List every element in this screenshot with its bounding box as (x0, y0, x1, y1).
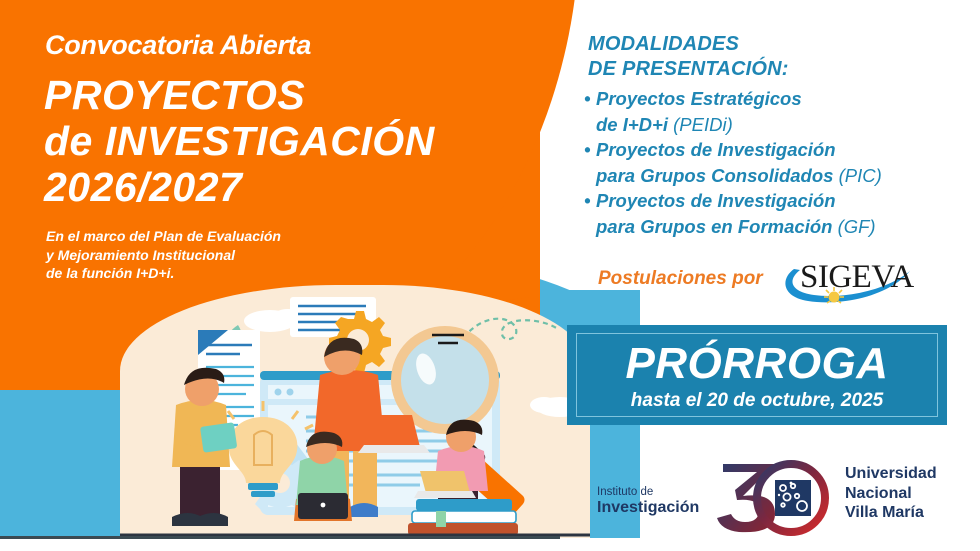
lede-line-2: y Mejoramiento Institucional (46, 246, 281, 265)
bullet-icon: • (584, 188, 596, 214)
list-item-line-2: para Grupos Consolidados (596, 165, 833, 186)
university-name: Universidad Nacional Villa María (845, 464, 937, 523)
research-illustration (120, 285, 590, 538)
sigeva-logo[interactable]: SIGEVA (778, 257, 918, 305)
sigeva-wordmark: SIGEVA (800, 259, 914, 296)
deadline-subline: hasta el 20 de octubre, 2025 (567, 390, 947, 412)
lede-line-3: de la función I+D+i. (46, 264, 281, 283)
list-item-abbr: (GF) (838, 216, 876, 237)
list-item-line-1: Proyectos de Investigación (596, 139, 836, 160)
kicker-text: Convocatoria Abierta (45, 30, 311, 61)
modalities-heading-line-2: DE PRESENTACIÓN: (588, 57, 789, 82)
institute-logo: Instituto de Investigación (597, 484, 699, 516)
institute-line-1: Instituto de (597, 484, 699, 500)
list-item-abbr: (PEIDi) (673, 114, 733, 135)
title-line-3: 2026/2027 (44, 164, 435, 210)
title-line-2: de INVESTIGACIÓN (44, 118, 435, 164)
list-item-line-1: Proyectos de Investigación (596, 190, 836, 211)
bullet-icon: • (584, 137, 596, 163)
lede-text: En el marco del Plan de Evaluación y Mej… (46, 227, 281, 283)
university-line-3: Villa María (845, 503, 937, 523)
page-title: PROYECTOS de INVESTIGACIÓN 2026/2027 (44, 72, 435, 210)
list-item: •Proyectos de Investigación (584, 137, 974, 163)
university-line-1: Universidad (845, 464, 937, 484)
anniversary-30-icon (713, 452, 838, 542)
list-item: •Proyectos de Investigación (584, 188, 974, 214)
list-item-continuation: para Grupos en Formación (GF) (584, 214, 974, 240)
lede-line-1: En el marco del Plan de Evaluación (46, 227, 281, 246)
modalities-heading: MODALIDADES DE PRESENTACIÓN: (588, 32, 789, 82)
title-line-1: PROYECTOS (44, 72, 435, 118)
list-item-line-1: Proyectos Estratégicos (596, 88, 802, 109)
list-item-line-2: para Grupos en Formación (596, 216, 832, 237)
books-icon (408, 499, 518, 535)
modalities-list: •Proyectos Estratégicos de I+D+i (PEIDi)… (584, 86, 974, 239)
modalities-heading-line-1: MODALIDADES (588, 32, 789, 57)
university-logo[interactable]: Universidad Nacional Villa María (713, 452, 963, 542)
list-item-continuation: de I+D+i (PEIDi) (584, 112, 974, 138)
deadline-headline: PRÓRROGA (567, 339, 947, 389)
deadline-banner: PRÓRROGA hasta el 20 de octubre, 2025 (567, 325, 947, 425)
poster-canvas: Convocatoria Abierta PROYECTOS de INVEST… (0, 0, 980, 551)
university-line-2: Nacional (845, 484, 937, 504)
list-item: •Proyectos Estratégicos (584, 86, 974, 112)
list-item-continuation: para Grupos Consolidados (PIC) (584, 163, 974, 189)
bullet-icon: • (584, 86, 596, 112)
postulations-label: Postulaciones por (598, 268, 763, 290)
institute-line-2: Investigación (597, 500, 699, 516)
floor-divider (0, 536, 560, 539)
list-item-abbr: (PIC) (839, 165, 882, 186)
list-item-line-2: de I+D+i (596, 114, 668, 135)
